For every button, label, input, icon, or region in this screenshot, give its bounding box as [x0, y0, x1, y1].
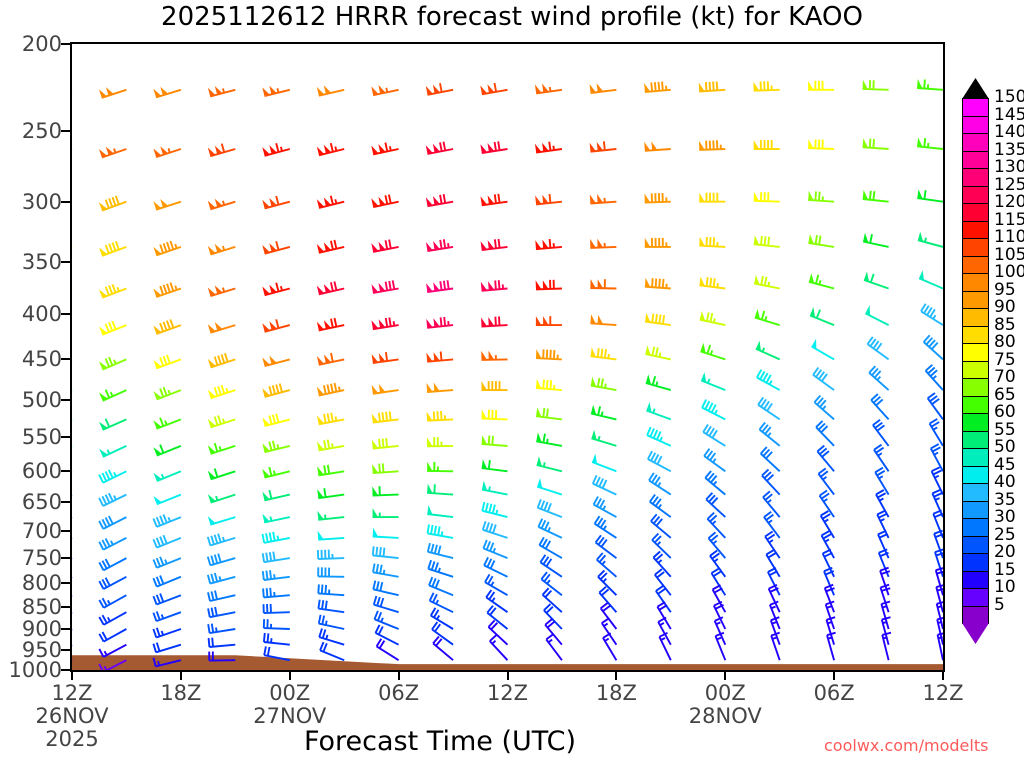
- wind-barb: [868, 337, 889, 360]
- y-tick-label: 250: [4, 119, 62, 143]
- colorbar-label: 130: [994, 159, 1024, 176]
- wind-barb: [758, 397, 780, 419]
- colorbar-label: 30: [994, 509, 1016, 526]
- wind-barb: [153, 557, 181, 568]
- wind-barb: [317, 383, 344, 396]
- wind-barb: [208, 285, 236, 296]
- wind-barb: [208, 494, 236, 503]
- colorbar-over-arrow: [962, 78, 991, 100]
- wind-barb: [427, 437, 453, 446]
- wind-barb: [808, 191, 834, 202]
- wind-barb: [928, 393, 943, 419]
- wind-barb: [262, 86, 290, 97]
- colorbar-swatch: [962, 116, 989, 135]
- wind-barb: [924, 335, 943, 359]
- wind-barb: [703, 425, 725, 446]
- wind-barb: [428, 560, 453, 577]
- wind-barb: [153, 535, 181, 547]
- wind-barb: [153, 199, 181, 210]
- wind-barb: [538, 499, 562, 517]
- wind-barb: [762, 469, 780, 494]
- wind-barb: [317, 413, 344, 425]
- colorbar-swatch: [962, 378, 989, 397]
- wind-barb: [481, 317, 507, 327]
- wind-barb: [917, 79, 943, 90]
- wind-barb: [481, 194, 508, 205]
- wind-barb: [537, 478, 562, 495]
- wind-barb: [99, 196, 127, 211]
- wind-barb: [490, 635, 508, 660]
- wind-barb: [317, 511, 344, 520]
- wind-barb: [644, 141, 671, 150]
- wind-barb: [263, 570, 290, 580]
- wind-barb: [754, 235, 780, 247]
- plot-area: [70, 42, 945, 672]
- y-tick-mark: [61, 530, 70, 532]
- wind-barb: [484, 557, 507, 577]
- wind-barb: [882, 633, 891, 661]
- wind-barb: [208, 534, 236, 546]
- y-tick-label: 450: [4, 347, 62, 371]
- wind-barb: [699, 237, 725, 247]
- wind-barb: [827, 633, 836, 661]
- x-tick-mark: [71, 672, 73, 680]
- wind-barb: [153, 643, 181, 653]
- wind-barb: [489, 620, 508, 644]
- wind-barb: [482, 381, 508, 390]
- wind-barb: [153, 355, 181, 368]
- wind-barb: [865, 305, 888, 325]
- wind-barb: [863, 233, 889, 247]
- y-tick-mark: [61, 261, 70, 263]
- colorbar-label: 55: [994, 422, 1016, 439]
- wind-barb: [482, 481, 508, 495]
- wind-barb: [208, 443, 236, 454]
- wind-barb: [208, 86, 235, 97]
- colorbar-label: 75: [994, 352, 1016, 369]
- watermark-link[interactable]: coolwx.com/modelts: [824, 736, 988, 755]
- wind-barb: [377, 639, 399, 661]
- wind-barb: [938, 633, 943, 660]
- colorbar-swatch: [962, 483, 989, 502]
- wind-barb: [874, 445, 889, 472]
- wind-barb: [426, 194, 453, 206]
- wind-barb: [154, 658, 181, 667]
- wind-barb: [592, 430, 617, 446]
- colorbar-swatch: [962, 256, 989, 275]
- wind-barb: [317, 318, 344, 331]
- wind-barb: [481, 280, 508, 291]
- wind-barb: [426, 142, 453, 154]
- wind-barb: [590, 83, 617, 93]
- colorbar-swatch: [962, 168, 989, 187]
- wind-barb: [262, 384, 290, 397]
- colorbar-label: 40: [994, 474, 1016, 491]
- wind-barb: [813, 368, 834, 391]
- wind-barb: [428, 525, 454, 538]
- colorbar-label: 20: [994, 544, 1016, 561]
- wind-barb: [209, 652, 235, 661]
- wind-barb: [317, 440, 344, 451]
- colorbar-swatch: [962, 588, 989, 607]
- wind-barb: [760, 423, 780, 446]
- wind-barb: [753, 81, 779, 91]
- wind-barb: [646, 402, 670, 419]
- x-tick-time: 12Z: [448, 682, 568, 705]
- wind-barb: [757, 370, 780, 390]
- wind-barb: [99, 493, 126, 506]
- colorbar-swatch: [962, 151, 989, 170]
- colorbar-swatch: [962, 396, 989, 415]
- wind-barb: [153, 87, 181, 98]
- wind-barb: [317, 353, 344, 365]
- wind-barb: [263, 588, 290, 598]
- colorbar-swatch: [962, 221, 989, 240]
- wind-barb: [208, 624, 235, 634]
- colorbar-swatch: [962, 571, 989, 590]
- colorbar-label: 10: [994, 579, 1016, 596]
- wind-barb: [99, 595, 126, 608]
- wind-barb: [264, 619, 290, 629]
- colorbar-swatch: [962, 536, 989, 555]
- colorbar-label: 45: [994, 457, 1016, 474]
- colorbar-label: 70: [994, 369, 1016, 386]
- wind-barb: [208, 607, 235, 617]
- x-tick-mark: [398, 672, 400, 680]
- wind-barb: [318, 600, 344, 613]
- wind-barb: [262, 441, 290, 452]
- wind-barb: [371, 195, 398, 208]
- wind-barb: [817, 446, 834, 472]
- y-tick-label: 600: [4, 459, 62, 483]
- colorbar-swatch: [962, 238, 989, 257]
- wind-barb: [536, 433, 562, 446]
- wind-barb: [546, 634, 562, 660]
- wind-barb: [430, 593, 453, 612]
- wind-barb: [591, 377, 617, 390]
- wind-barb: [716, 633, 726, 661]
- wind-barb: [485, 574, 508, 595]
- wind-barb: [262, 467, 290, 478]
- wind-barb: [590, 239, 616, 248]
- wind-barb: [590, 279, 616, 289]
- wind-barb: [153, 576, 181, 587]
- wind-barb: [99, 390, 126, 401]
- wind-barb: [917, 137, 943, 149]
- page-title: 2025112612 HRRR forecast wind profile (k…: [0, 2, 1024, 32]
- wind-barb: [644, 82, 671, 93]
- wind-barb: [651, 514, 671, 538]
- y-tick-mark: [61, 501, 70, 503]
- wind-barb: [208, 573, 235, 584]
- wind-barb: [317, 282, 344, 295]
- colorbar-label: 80: [994, 334, 1016, 351]
- wind-barb: [264, 646, 290, 660]
- wind-barb: [371, 143, 398, 155]
- colorbar-swatch: [962, 308, 989, 327]
- wind-barb: [429, 577, 453, 595]
- wind-barb: [427, 462, 453, 471]
- wind-barb: [427, 505, 453, 517]
- wind-barb: [701, 343, 726, 360]
- wind-barb: [99, 558, 126, 570]
- wind-barb: [153, 241, 181, 255]
- wind-barb: [931, 444, 943, 471]
- wind-barb: [372, 411, 399, 422]
- y-tick-mark: [61, 436, 70, 438]
- wind-barb: [208, 591, 235, 601]
- y-tick-mark: [61, 606, 70, 608]
- wind-barb: [99, 446, 126, 457]
- wind-barb: [208, 322, 236, 333]
- wind-barb: [371, 85, 398, 95]
- wind-barb: [433, 637, 453, 661]
- colorbar-label: 90: [994, 299, 1016, 316]
- wind-barb: [99, 660, 126, 670]
- wind-barb: [426, 280, 453, 292]
- wind-barb: [153, 445, 181, 456]
- x-axis-title: Forecast Time (UTC): [160, 726, 720, 757]
- x-tick-mark: [180, 672, 182, 680]
- wind-barb: [820, 491, 835, 518]
- wind-barb: [319, 615, 344, 629]
- wind-barb: [702, 400, 725, 420]
- wind-barb: [318, 550, 344, 559]
- wind-barb: [263, 532, 290, 543]
- wind-barb: [153, 611, 181, 621]
- colorbar-swatch: [962, 518, 989, 537]
- colorbar-label: 150: [994, 89, 1024, 106]
- wind-barb: [153, 418, 181, 429]
- wind-barb: [701, 372, 725, 390]
- wind-barb: [99, 87, 127, 98]
- wind-barb: [482, 502, 507, 517]
- colorbar-label: 65: [994, 387, 1016, 404]
- wind-barb: [262, 196, 290, 208]
- wind-barb: [99, 612, 126, 625]
- wind-barb: [426, 83, 453, 95]
- wind-barb: [372, 352, 399, 363]
- wind-barb: [264, 633, 290, 645]
- wind-barb: [816, 421, 834, 446]
- colorbar-swatch: [962, 203, 989, 222]
- wind-barb: [699, 140, 725, 150]
- wind-barb: [262, 490, 289, 500]
- colorbar-label: 115: [994, 212, 1024, 229]
- wind-barb: [809, 273, 834, 288]
- wind-barb: [826, 602, 835, 630]
- wind-barb: [153, 471, 181, 481]
- wind-barb: [591, 347, 617, 359]
- x-tick-time: 12Z: [12, 682, 132, 705]
- colorbar-label: 125: [994, 177, 1024, 194]
- colorbar-swatch: [962, 133, 989, 152]
- x-tick-time: 12Z: [883, 682, 1003, 705]
- x-tick-mark: [289, 672, 291, 680]
- colorbar-label: 110: [994, 229, 1024, 246]
- wind-barb: [99, 629, 126, 642]
- wind-barb: [208, 416, 236, 428]
- wind-barb: [755, 309, 780, 325]
- wind-barb: [482, 410, 508, 420]
- wind-barb: [864, 272, 889, 289]
- wind-barb: [318, 531, 345, 540]
- wind-barb: [262, 319, 290, 331]
- x-tick-label: 00Z27NOV: [230, 682, 350, 728]
- x-tick-label: 06Z: [774, 682, 894, 705]
- wind-barb: [372, 486, 398, 495]
- colorbar-swatch: [962, 361, 989, 380]
- x-tick-year: 2025: [12, 728, 132, 751]
- wind-barb: [372, 384, 399, 394]
- wind-barb: [761, 447, 780, 471]
- wind-barb: [99, 645, 126, 657]
- wind-barb: [427, 383, 454, 393]
- wind-barb: [658, 618, 671, 645]
- wind-barb: [539, 537, 562, 558]
- wind-barb: [99, 516, 126, 529]
- wind-barb: [918, 232, 943, 247]
- wind-barb: [645, 278, 671, 289]
- wind-barb: [699, 81, 726, 91]
- wind-barb: [372, 438, 399, 449]
- y-tick-mark: [61, 669, 70, 671]
- wind-barb: [595, 516, 617, 538]
- wind-barb: [264, 604, 290, 613]
- colorbar-label: 35: [994, 492, 1016, 509]
- wind-barb: [153, 628, 181, 638]
- wind-barb: [153, 146, 181, 157]
- y-tick-mark: [61, 470, 70, 472]
- x-tick-label: 06Z: [339, 682, 459, 705]
- wind-barb: [262, 414, 290, 426]
- y-tick-label: 550: [4, 425, 62, 449]
- colorbar-label: 105: [994, 247, 1024, 264]
- wind-barb: [209, 638, 236, 647]
- wind-barb: [704, 449, 725, 472]
- wind-barb: [483, 521, 508, 538]
- wind-barb: [808, 139, 834, 149]
- wind-barb: [483, 540, 507, 558]
- wind-barb: [536, 349, 562, 359]
- colorbar-swatch: [962, 466, 989, 485]
- wind-barb: [538, 519, 562, 538]
- wind-barb: [481, 239, 508, 250]
- x-tick-mark: [507, 672, 509, 680]
- wind-barb: [705, 471, 725, 495]
- wind-barb: [318, 567, 344, 576]
- y-tick-label: 500: [4, 388, 62, 412]
- wind-barb: [372, 318, 399, 330]
- x-tick-label: 18Z: [556, 682, 676, 705]
- wind-barb: [480, 141, 507, 153]
- wind-barb: [317, 465, 344, 476]
- y-tick-label: 300: [4, 190, 62, 214]
- wind-barb: [373, 564, 399, 577]
- wind-barb: [708, 513, 726, 538]
- colorbar-swatch: [962, 326, 989, 345]
- colorbar-label: 50: [994, 439, 1016, 456]
- wind-barb: [706, 493, 725, 517]
- wind-barb: [427, 411, 454, 421]
- wind-barb: [208, 554, 236, 566]
- wind-barb: [99, 470, 126, 483]
- wind-barb: [812, 339, 835, 360]
- colorbar-swatch: [962, 553, 989, 572]
- wind-barb: [930, 419, 943, 446]
- wind-barb: [646, 374, 671, 390]
- colorbar-label: 140: [994, 124, 1024, 141]
- wind-barb: [871, 394, 888, 419]
- wind-barb: [263, 552, 290, 563]
- colorbar-swatch: [962, 291, 989, 310]
- wind-barb: [99, 538, 126, 550]
- colorbar-label: 120: [994, 194, 1024, 211]
- colorbar-swatch: [962, 501, 989, 520]
- colorbar-swatch: [962, 413, 989, 432]
- wind-barb: [153, 319, 181, 334]
- wind-barb: [317, 240, 344, 253]
- wind-barb: [917, 189, 943, 202]
- wind-barb: [863, 80, 889, 90]
- wind-barb: [373, 508, 399, 517]
- wind-barb: [208, 199, 236, 210]
- wind-barb: [153, 387, 181, 399]
- wind-barb: [262, 143, 290, 156]
- wind-barb: [480, 83, 507, 94]
- wind-barb: [645, 193, 671, 203]
- wind-barb: [320, 642, 344, 660]
- colorbar-swatch: [962, 273, 989, 292]
- wind-barb: [427, 484, 453, 495]
- y-tick-label: 750: [4, 546, 62, 570]
- wind-barb: [481, 351, 507, 360]
- colorbar-label: 145: [994, 107, 1024, 124]
- y-tick-mark: [61, 201, 70, 203]
- wind-barb: [535, 142, 562, 153]
- wind-barb: [926, 365, 943, 390]
- y-tick-mark: [61, 399, 70, 401]
- colorbar-label: 25: [994, 527, 1016, 544]
- wind-barb: [763, 491, 780, 517]
- wind-barb: [426, 317, 453, 328]
- wind-barb: [482, 435, 508, 446]
- wind-barb: [808, 81, 834, 90]
- wind-barb: [594, 497, 617, 517]
- wind-barb: [863, 138, 889, 149]
- wind-barb: [373, 546, 399, 558]
- x-tick-date: 27NOV: [230, 705, 350, 728]
- wind-barb: [262, 356, 290, 367]
- y-tick-mark: [61, 582, 70, 584]
- wind-barb: [590, 141, 617, 151]
- y-tick-mark: [61, 43, 70, 45]
- colorbar-swatch: [962, 606, 989, 625]
- wind-barb: [99, 577, 126, 589]
- wind-barb: [815, 396, 835, 420]
- wind-barb: [810, 307, 834, 325]
- wind-barb: [374, 596, 399, 612]
- wind-barb: [372, 463, 399, 473]
- y-tick-mark: [61, 313, 70, 315]
- wind-barb: [754, 275, 780, 289]
- wind-barb: [603, 633, 616, 660]
- y-tick-label: 1000: [4, 658, 62, 682]
- colorbar-label: 5: [994, 597, 1005, 614]
- colorbar-swatch: [962, 448, 989, 467]
- wind-barb: [317, 196, 344, 208]
- colorbar-swatch: [962, 98, 989, 117]
